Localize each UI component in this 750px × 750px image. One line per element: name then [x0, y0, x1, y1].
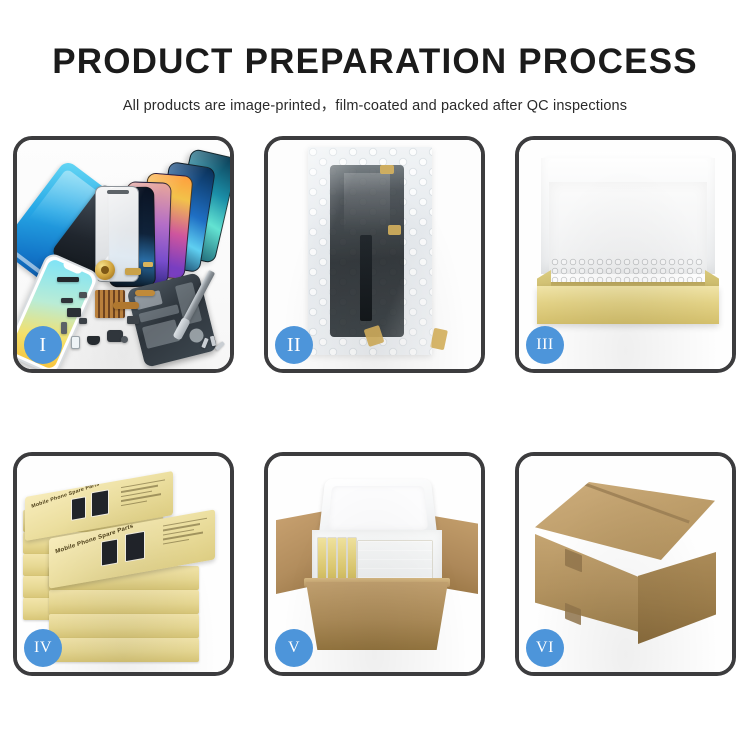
box-spec-lines [121, 479, 165, 509]
step-panel-5: V [264, 452, 485, 676]
spare-part [79, 318, 87, 324]
stacked-box [49, 590, 199, 614]
box-spec-lines [163, 518, 207, 548]
step-badge-4: IV [24, 629, 62, 667]
spare-part [67, 308, 81, 317]
spare-part [125, 268, 141, 275]
page-title: PRODUCT PREPARATION PROCESS [0, 44, 750, 81]
step-panel-1: I [13, 136, 234, 373]
carton-front-panel [306, 582, 448, 650]
step-badge-3: III [526, 326, 564, 364]
spare-part [61, 298, 73, 303]
steps-grid: I II [13, 136, 737, 678]
spare-part [113, 302, 139, 309]
step-badge-1: I [24, 326, 62, 364]
step-badge-6: VI [526, 629, 564, 667]
spare-part [87, 336, 100, 345]
screw [210, 336, 216, 347]
step-badge-5: V [275, 629, 313, 667]
stacked-box [49, 638, 199, 662]
step-panel-6: VI [515, 452, 736, 676]
bubble-wrap-bag [308, 147, 432, 355]
spare-part [61, 322, 67, 334]
screw [215, 341, 225, 351]
spare-part [127, 316, 139, 324]
stacked-box [49, 614, 199, 638]
spare-part [79, 292, 87, 298]
plastic-gloss-highlight [308, 147, 432, 355]
box-window-phone-image [91, 489, 109, 517]
screw [201, 338, 208, 349]
spare-part [71, 336, 80, 349]
spare-part [143, 262, 153, 267]
product-preparation-infographic: PRODUCT PREPARATION PROCESS All products… [0, 0, 750, 750]
kraft-box-front [537, 286, 719, 324]
step-panel-4: Mobile Phone Spare Parts Mobile Phone [13, 452, 234, 676]
box-label-text: Mobile Phone Spare Parts [31, 481, 100, 510]
box-window-phone-image [71, 496, 86, 521]
loose-screws [203, 336, 225, 352]
step-panel-3: III [515, 136, 736, 373]
box-window-phone-image [125, 531, 145, 563]
spare-part [121, 336, 128, 343]
spare-part [57, 277, 79, 282]
page-subtitle: All products are image-printed，film-coat… [0, 94, 750, 115]
header: PRODUCT PREPARATION PROCESS All products… [0, 0, 750, 115]
vibration-motor-part [95, 260, 115, 280]
spare-part [135, 290, 155, 296]
step-panel-2: II [264, 136, 485, 373]
step-badge-2: II [275, 326, 313, 364]
box-window-phone-image [101, 538, 118, 566]
